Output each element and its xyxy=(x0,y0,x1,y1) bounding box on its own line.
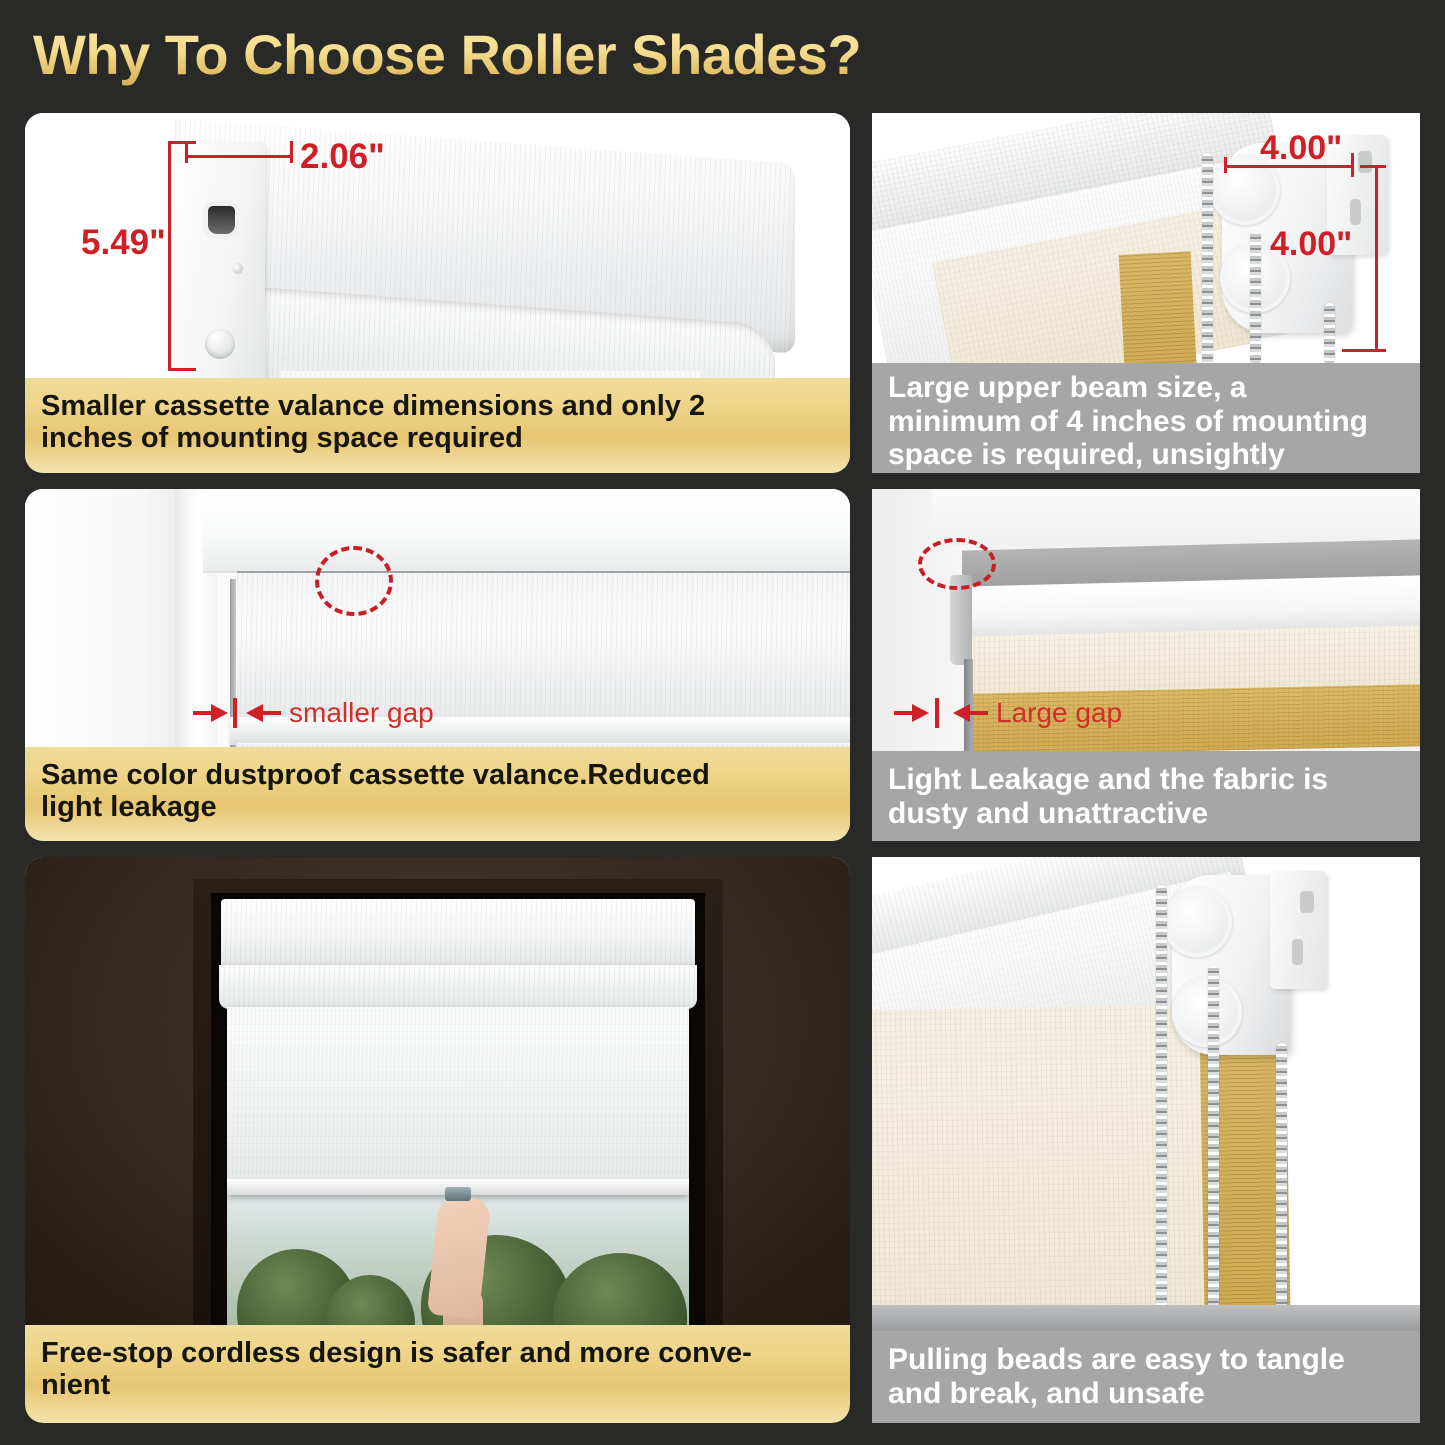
caption-line: Pulling beads are easy to tangle xyxy=(888,1343,1345,1377)
large-gap-annotation: Large gap xyxy=(894,697,1122,729)
panel-light-leakage: Large gap Light Leakage and the fabric i… xyxy=(872,489,1420,841)
bead-chain xyxy=(1250,231,1261,365)
caption-line: dusty and unattractive xyxy=(888,797,1208,831)
arrow-left-icon xyxy=(246,704,263,722)
arrow-right-icon xyxy=(912,704,929,722)
caption-line: Free-stop cordless design is safer and m… xyxy=(41,1337,752,1369)
panel-1-photo: 5.49" 2.06" xyxy=(25,113,850,381)
caption-line: and break, and unsafe xyxy=(888,1377,1205,1411)
cord-slot-icon xyxy=(208,206,235,234)
height-dimension-label: 4.00" xyxy=(1270,225,1352,264)
bead-chain xyxy=(1208,965,1219,1331)
caption-line: Smaller cassette valance dimensions and … xyxy=(41,390,705,422)
panel-3-photo: smaller gap xyxy=(25,489,850,747)
bead-chain xyxy=(1324,303,1335,365)
knob-icon xyxy=(205,329,235,359)
caption-line: light leakage xyxy=(41,791,217,823)
width-dimension-label: 2.06" xyxy=(300,137,385,177)
panel-4-caption: Light Leakage and the fabric is dusty an… xyxy=(872,751,1420,841)
bead-chain xyxy=(1276,1043,1287,1331)
caption-line: Large upper beam size, a xyxy=(888,371,1246,405)
caption-line: Same color dustproof cassette valance.Re… xyxy=(41,759,710,791)
panel-grid: 5.49" 2.06" Smaller cassette valance dim… xyxy=(0,0,1445,1445)
bead-chain xyxy=(1202,153,1213,365)
panel-cassette-valance-dimensions: 5.49" 2.06" Smaller cassette valance dim… xyxy=(25,113,850,473)
width-dimension-label: 4.00" xyxy=(1260,129,1342,168)
arrow-left-icon xyxy=(953,704,970,722)
smaller-gap-annotation: smaller gap xyxy=(193,697,434,729)
panel-4-photo: Large gap xyxy=(872,489,1420,751)
panel-pulling-beads: Pulling beads are easy to tangle and bre… xyxy=(872,857,1420,1423)
gap-label: Large gap xyxy=(996,697,1122,729)
gap-highlight-ellipse xyxy=(315,546,393,616)
height-dimension-label: 5.49" xyxy=(81,223,166,263)
screw-icon xyxy=(232,263,243,274)
caption-line: Light Leakage and the fabric is xyxy=(888,763,1328,797)
caption-line: space is required, unsightly xyxy=(888,438,1285,472)
panel-3-caption: Same color dustproof cassette valance.Re… xyxy=(25,747,850,841)
roller-shade-fabric xyxy=(227,1007,689,1193)
panel-5-photo xyxy=(25,857,850,1325)
panel-dustproof-cassette: smaller gap Same color dustproof cassett… xyxy=(25,489,850,841)
panel-6-photo xyxy=(872,857,1420,1331)
panel-large-upper-beam: 4.00" 4.00" Large upper beam size, a min… xyxy=(872,113,1420,473)
infographic-page: Why To Choose Roller Shades? 5.49" xyxy=(0,0,1445,1445)
panel-cordless-design: Free-stop cordless design is safer and m… xyxy=(25,857,850,1423)
panel-1-caption: Smaller cassette valance dimensions and … xyxy=(25,378,850,473)
panel-5-caption: Free-stop cordless design is safer and m… xyxy=(25,1325,850,1423)
bead-chain xyxy=(1156,885,1167,1331)
panel-6-caption: Pulling beads are easy to tangle and bre… xyxy=(872,1331,1420,1423)
bottom-rail-grip xyxy=(445,1187,471,1201)
gap-label: smaller gap xyxy=(289,697,434,729)
panel-2-caption: Large upper beam size, a minimum of 4 in… xyxy=(872,363,1420,473)
cassette-valance xyxy=(221,899,695,971)
caption-line: nient xyxy=(41,1369,110,1401)
panel-2-photo: 4.00" 4.00" xyxy=(872,113,1420,365)
gap-highlight-ellipse xyxy=(918,538,996,590)
arrow-right-icon xyxy=(211,704,228,722)
caption-line: inches of mounting space required xyxy=(41,422,523,454)
caption-line: minimum of 4 inches of mounting xyxy=(888,405,1368,439)
